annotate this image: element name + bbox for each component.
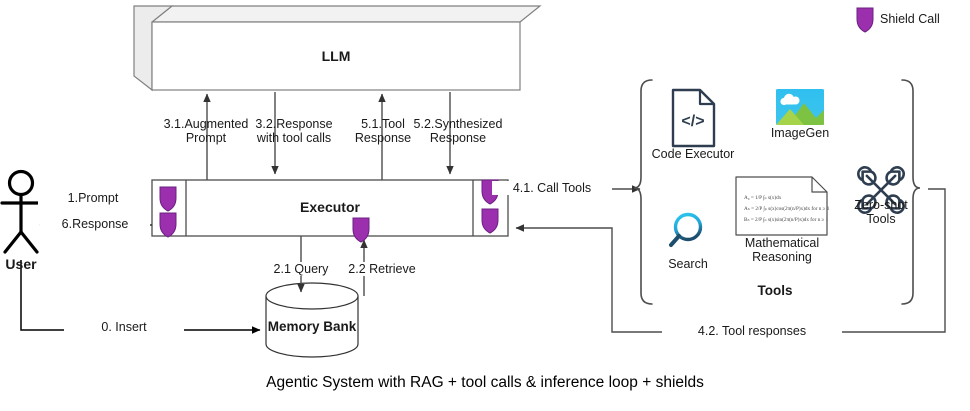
user-label: User (0, 257, 46, 271)
memory-bank-label: Memory Bank (262, 320, 362, 334)
magnifier-icon (671, 215, 701, 246)
tool-label-zero-shot-tools: Zero-shot Tools (840, 198, 922, 226)
user-actor (2, 172, 40, 253)
executor-label: Executor (280, 200, 380, 214)
edge-label-prompt: 1.Prompt (38, 191, 148, 205)
tool-label-imagegen: ImageGen (754, 126, 846, 140)
code-document-icon: </> (673, 90, 714, 146)
tool-label-mathematical-reasoning: Mathematical Reasoning (732, 236, 832, 264)
edge-label-tool-responses: 4.2. Tool responses (662, 324, 842, 338)
svg-text:</>: </> (681, 113, 704, 130)
tool-label-search: Search (655, 257, 721, 271)
tools-group-label: Tools (725, 284, 825, 298)
shield-icon-executor-memory (353, 218, 369, 242)
edge-label-synthesized-response: 5.2.Synthesized Response (394, 117, 522, 145)
edge-label-insert: 0. Insert (64, 320, 184, 334)
legend-shield-call-label: Shield Call (880, 12, 970, 26)
llm-label: LLM (286, 49, 386, 63)
tool-label-code-executor: Code Executor (646, 147, 740, 161)
image-picture-icon (776, 89, 824, 125)
svg-text:Aₙ = 2/P ∫ₚ s(x)cos(2π(n/P)x)d: Aₙ = 2/P ∫ₚ s(x)cos(2π(n/P)x)dx for n ≥ … (744, 205, 830, 212)
edge-label-call-tools: 4.1. Call Tools (492, 181, 612, 195)
diagram-canvas: </> A₀ = (0, 0, 970, 411)
edge-label-retrieve: 2.2 Retrieve (330, 262, 434, 276)
diagram-caption: Agentic System with RAG + tool calls & i… (0, 374, 970, 392)
edge-label-response: 6.Response (40, 217, 150, 231)
formula-document-icon: A₀ = 1/P ∫ₚ s(x)dx Aₙ = 2/P ∫ₚ s(x)cos(2… (736, 177, 830, 235)
shield-icon-legend (857, 8, 873, 32)
svg-text:A₀ = 1/P ∫ₚ s(x)dx: A₀ = 1/P ∫ₚ s(x)dx (744, 194, 782, 201)
svg-text:Bₙ = 2/P ∫ₚ s(x)sin(2π(n/P)x)d: Bₙ = 2/P ∫ₚ s(x)sin(2π(n/P)x)dx for n ≥ … (744, 216, 829, 223)
